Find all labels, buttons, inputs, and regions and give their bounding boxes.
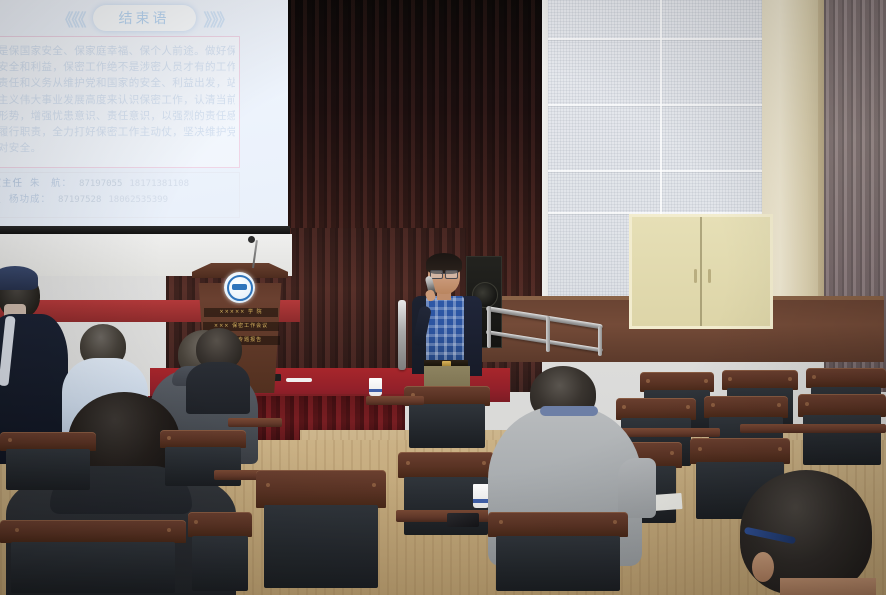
contact-name: 朱 航：	[30, 176, 72, 191]
panel-seam	[548, 38, 762, 40]
slide-line: 有责任和义务从维护党和国家的安全、利益出发，站在中	[0, 75, 235, 91]
handrail-post	[598, 326, 602, 356]
chair-stud	[167, 528, 171, 532]
podium-plaque: ××××× 学 院	[204, 308, 278, 317]
contact-role: 公室主任	[0, 176, 23, 191]
chair[interactable]	[160, 430, 246, 490]
slide-line: 家安全和利益，保密工作绝不是涉密人员才有的工作，全	[0, 59, 235, 75]
door-handle-left[interactable]	[694, 269, 697, 283]
projection-screen: 《《《 结束语 》》》 就是保国家安全、保家庭幸福、保个人前途。做好保密工 家安…	[0, 0, 288, 232]
chevron-right-icon: 》》》	[204, 6, 232, 31]
chair-backrest	[806, 368, 886, 388]
chair-stud	[704, 379, 708, 383]
glasses-bridge	[441, 273, 445, 274]
smartphone-on-desk[interactable]	[447, 513, 479, 527]
desk-ledge	[228, 418, 282, 427]
desk-ledge	[740, 424, 886, 433]
chair-backrest	[798, 394, 886, 417]
foreground-neck	[780, 578, 876, 595]
chair-cushion	[192, 536, 248, 591]
chair-backrest	[160, 430, 246, 448]
presenter-glasses-icon	[445, 270, 458, 279]
slide-line: 绝对安全。	[0, 140, 235, 156]
chair-cushion	[409, 404, 485, 448]
contact-name: 杨功成：	[9, 192, 51, 207]
cup-band	[369, 389, 382, 392]
contact-mobile: 18171381108	[129, 177, 189, 192]
contact-phone: 87197055	[79, 177, 122, 192]
chair-backrest	[0, 520, 186, 543]
contact-role: 密员	[0, 192, 2, 207]
chair-cushion	[6, 449, 90, 490]
chair-stud	[8, 438, 12, 442]
chair-stud	[805, 402, 809, 406]
chair[interactable]	[0, 432, 96, 494]
slide-line: 真履行职责，全力打好保密工作主动仗，坚决维护党和国	[0, 124, 235, 140]
slide-contact-block: 公室主任 朱 航： 87197055 18171381108 密员 杨功成： 8…	[0, 172, 240, 218]
chair-cushion	[11, 542, 175, 593]
chair-stud	[686, 405, 690, 409]
chair-backrest	[722, 370, 798, 390]
chair-stud	[778, 447, 782, 451]
chair-stud	[788, 377, 792, 381]
chair-cushion	[165, 447, 241, 487]
chair-stud	[406, 461, 410, 465]
chair[interactable]	[188, 512, 252, 595]
chair-cushion	[264, 505, 378, 588]
chair[interactable]	[488, 512, 628, 595]
hair-accessory	[0, 266, 38, 290]
shirt-collar	[540, 406, 598, 416]
slide-body: 就是保国家安全、保家庭幸福、保个人前途。做好保密工 家安全和利益，保密工作绝不是…	[0, 36, 240, 168]
chair-stud	[698, 447, 702, 451]
chair-stud	[167, 436, 171, 440]
auditorium-photo: 《《《 结束语 》》》 就是保国家安全、保家庭幸福、保个人前途。做好保密工 家安…	[0, 0, 886, 595]
door-center-seam	[700, 217, 702, 326]
chair-stud	[15, 528, 19, 532]
contact-row: 公室主任 朱 航： 87197055 18171381108	[0, 176, 237, 192]
slide-title-row: 《《《 结束语 》》》	[0, 4, 288, 32]
chair-cushion	[803, 415, 880, 465]
chevron-left-icon: 《《《	[57, 6, 85, 31]
contact-row: 密员 杨功成： 87197528 18062535399	[0, 192, 237, 208]
chair-backrest	[0, 432, 96, 451]
chair-backrest	[704, 396, 788, 418]
slide-title: 结束语	[93, 5, 196, 31]
desk-ledge	[366, 396, 424, 405]
slide-line: 峻形势，增强忧患意识、责任意识，以强烈的责任感和紧	[0, 108, 235, 124]
handrail-post	[546, 316, 550, 352]
chair-backrest	[488, 512, 628, 537]
person-arm	[618, 458, 656, 518]
emblem-mark	[227, 275, 253, 301]
chair-stud	[372, 483, 376, 487]
chair-backrest	[690, 438, 790, 464]
chair-stud	[728, 377, 732, 381]
panel-seam	[548, 104, 762, 106]
door-handle-right[interactable]	[708, 269, 711, 283]
paper-cup[interactable]	[369, 378, 382, 396]
chair-cushion	[496, 536, 619, 591]
institution-emblem-icon	[224, 272, 255, 303]
slide-line: 会主义伟大事业发展高度来认识保密工作，认清当前保密	[0, 92, 235, 108]
stage-cable-tape	[286, 378, 312, 382]
slide-line: 就是保国家安全、保家庭幸福、保个人前途。做好保密工	[0, 43, 235, 59]
contact-mobile: 18062535399	[108, 193, 168, 208]
chair[interactable]	[0, 520, 186, 595]
foreground-ear	[752, 552, 774, 582]
screen-frame	[0, 226, 290, 234]
contact-phone: 87197528	[58, 193, 101, 208]
chair-stud	[670, 451, 674, 455]
podium-microphone-icon	[248, 236, 255, 243]
chair-backrest	[188, 512, 252, 537]
chair-backrest	[256, 470, 386, 508]
presenter-plaid-shirt	[426, 296, 464, 364]
chair[interactable]	[256, 470, 386, 595]
panel-seam	[548, 170, 762, 172]
